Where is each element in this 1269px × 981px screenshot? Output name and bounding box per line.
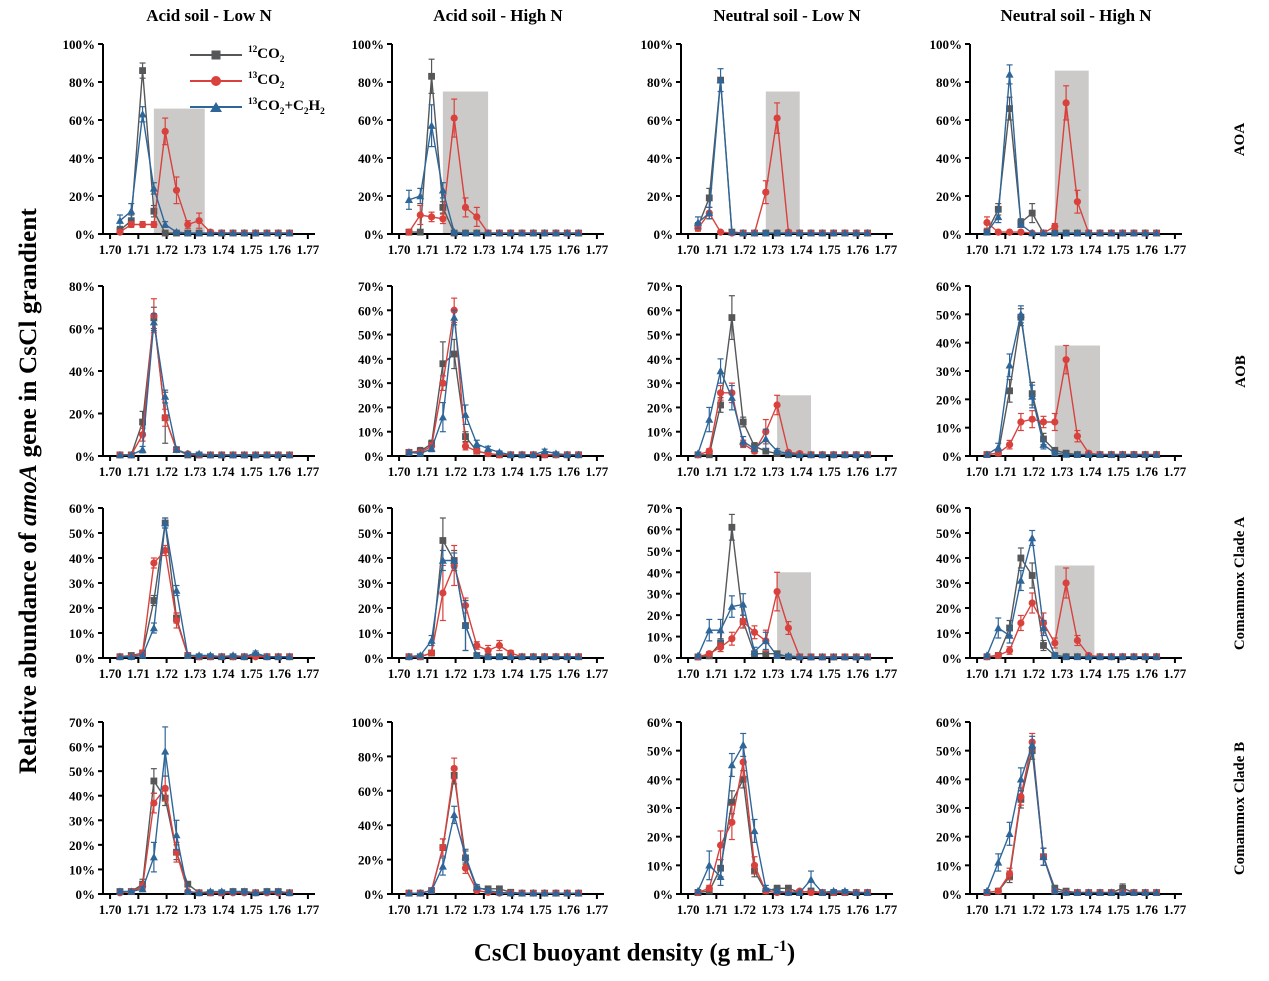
x-tick-label: 1.71 — [705, 902, 728, 917]
data-point-triangle — [994, 858, 1002, 865]
y-tick-label: 60% — [358, 501, 384, 516]
y-tick-label: 30% — [69, 813, 95, 828]
y-tick-label: 20% — [69, 407, 95, 422]
data-point-circle — [1063, 99, 1070, 106]
x-tick-label: 1.76 — [846, 902, 869, 917]
x-tick-label: 1.71 — [705, 666, 728, 681]
data-point-circle — [1051, 418, 1058, 425]
data-point-circle — [995, 229, 1002, 236]
y-tick-label: 30% — [69, 576, 95, 591]
x-tick-label: 1.70 — [677, 242, 700, 257]
series-12CO2 — [117, 518, 293, 660]
data-point-circle — [1006, 870, 1013, 877]
chart-panel-r2-c2[interactable]: 0%10%20%30%40%50%60%70%1.701.711.721.731… — [621, 498, 907, 688]
series-12CO2 — [406, 59, 582, 236]
x-tick-label: 1.71 — [994, 242, 1017, 257]
x-tick-label: 1.74 — [501, 902, 524, 917]
data-point-circle — [128, 221, 135, 228]
data-point-circle — [116, 229, 123, 236]
x-tick-label: 1.72 — [444, 464, 467, 479]
data-point-circle — [774, 401, 781, 408]
x-tick-label: 1.75 — [240, 666, 263, 681]
data-point-square — [1029, 572, 1036, 579]
x-tick-label: 1.72 — [155, 666, 178, 681]
chart-panel-r2-c1[interactable]: 0%10%20%30%40%50%60%1.701.711.721.731.74… — [332, 498, 618, 688]
chart-svg: 0%20%40%60%80%100%1.701.711.721.731.741.… — [621, 34, 907, 264]
data-point-circle — [1074, 198, 1081, 205]
y-tick-label: 30% — [936, 576, 962, 591]
data-point-square — [1017, 555, 1024, 562]
y-tick-label: 60% — [647, 522, 673, 537]
x-tick-label: 1.73 — [472, 902, 495, 917]
y-tick-label: 30% — [936, 364, 962, 379]
y-tick-label: 0% — [365, 887, 385, 902]
data-point-circle — [173, 187, 180, 194]
chart-svg: 0%20%40%60%80%100%1.701.711.721.731.741.… — [332, 34, 618, 264]
y-tick-label: 10% — [647, 425, 673, 440]
data-point-circle — [728, 635, 735, 642]
y-tick-label: 40% — [358, 151, 384, 166]
x-tick-label: 1.73 — [1050, 902, 1073, 917]
x-tick-label: 1.76 — [557, 666, 580, 681]
series-13CO2-C2H2 — [405, 310, 583, 458]
y-tick-label: 20% — [358, 601, 384, 616]
y-tick-label: 10% — [936, 626, 962, 641]
y-tick-label: 20% — [936, 830, 962, 845]
x-tick-label: 1.76 — [846, 242, 869, 257]
series-line — [987, 745, 1157, 893]
data-point-circle — [1029, 416, 1036, 423]
data-point-circle — [439, 844, 446, 851]
data-point-circle — [417, 211, 424, 218]
x-tick-label: 1.77 — [875, 464, 898, 479]
data-point-square — [740, 419, 747, 426]
chart-panel-r2-c3[interactable]: 0%10%20%30%40%50%60%1.701.711.721.731.74… — [910, 498, 1196, 688]
y-tick-label: 70% — [358, 279, 384, 294]
chart-svg: 0%10%20%30%40%50%60%1.701.711.721.731.74… — [43, 498, 329, 688]
y-tick-label: 60% — [358, 113, 384, 128]
chart-svg: 0%10%20%30%40%50%60%70%1.701.711.721.731… — [621, 276, 907, 486]
y-tick-label: 20% — [69, 601, 95, 616]
x-tick-label: 1.71 — [127, 464, 150, 479]
x-tick-label: 1.70 — [99, 242, 122, 257]
y-tick-label: 0% — [943, 651, 963, 666]
data-point-circle — [728, 819, 735, 826]
y-tick-label: 10% — [69, 862, 95, 877]
y-tick-label: 20% — [358, 400, 384, 415]
series-line — [698, 762, 868, 892]
row-label-text: AOA — [1233, 122, 1250, 155]
x-tick-label: 1.74 — [790, 464, 813, 479]
y-tick-label: 60% — [936, 715, 962, 730]
y-tick-label: 50% — [936, 307, 962, 322]
data-point-circle — [462, 443, 469, 450]
x-tick-label: 1.76 — [1135, 666, 1158, 681]
series-line — [120, 131, 290, 233]
row-label-3: Comammox Clade B — [1215, 722, 1267, 894]
data-point-circle — [1006, 229, 1013, 236]
chart-panel-r3-c0[interactable]: 0%10%20%30%40%50%60%70%1.701.711.721.731… — [43, 712, 329, 924]
chart-svg: 0%10%20%30%40%50%60%1.701.711.721.731.74… — [621, 712, 907, 924]
y-tick-label: 100% — [930, 37, 963, 52]
x-tick-label: 1.76 — [268, 902, 291, 917]
data-point-circle — [451, 765, 458, 772]
data-point-square — [439, 537, 446, 544]
x-tick-label: 1.75 — [240, 242, 263, 257]
x-tick-label: 1.70 — [99, 666, 122, 681]
x-tick-label: 1.74 — [501, 464, 524, 479]
series-12CO2 — [117, 63, 293, 236]
data-point-circle — [473, 213, 480, 220]
y-tick-label: 40% — [69, 551, 95, 566]
series-13CO2 — [405, 298, 582, 458]
chart-panel-r1-c3[interactable]: 0%10%20%30%40%50%60%1.701.711.721.731.74… — [910, 276, 1196, 486]
x-tick-label: 1.76 — [846, 464, 869, 479]
series-line — [698, 779, 868, 892]
x-tick-label: 1.71 — [416, 666, 439, 681]
x-tick-label: 1.73 — [472, 666, 495, 681]
x-tick-label: 1.77 — [586, 902, 609, 917]
y-tick-label: 20% — [647, 830, 673, 845]
x-tick-label: 1.70 — [966, 464, 989, 479]
data-point-circle — [451, 115, 458, 122]
x-tick-label: 1.74 — [212, 242, 235, 257]
x-tick-label: 1.76 — [268, 666, 291, 681]
x-tick-label: 1.76 — [1135, 242, 1158, 257]
chart-panel-r0-c0[interactable]: 0%20%40%60%80%100%1.701.711.721.731.741.… — [43, 34, 329, 264]
data-point-triangle — [439, 862, 447, 869]
y-tick-label: 20% — [69, 189, 95, 204]
data-point-circle — [462, 865, 469, 872]
data-point-circle — [1017, 619, 1024, 626]
data-point-circle — [428, 649, 435, 656]
chart-panel-r3-c2[interactable]: 0%10%20%30%40%50%60%1.701.711.721.731.74… — [621, 712, 907, 924]
y-tick-label: 20% — [936, 189, 962, 204]
chart-panel-r1-c0[interactable]: 0%20%40%60%80%1.701.711.721.731.741.751.… — [43, 276, 329, 486]
data-point-triangle — [439, 413, 447, 420]
y-tick-label: 50% — [647, 328, 673, 343]
y-tick-label: 0% — [943, 449, 963, 464]
y-tick-label: 10% — [69, 626, 95, 641]
data-point-triangle — [1017, 775, 1025, 782]
series-12CO2 — [117, 769, 293, 896]
data-point-circle — [139, 221, 146, 228]
y-tick-label: 0% — [365, 449, 385, 464]
y-tick-label: 100% — [352, 715, 385, 730]
y-tick-label: 40% — [69, 151, 95, 166]
y-tick-label: 40% — [358, 818, 384, 833]
y-tick-label: 0% — [654, 227, 674, 242]
x-tick-label: 1.70 — [966, 902, 989, 917]
data-point-circle — [717, 644, 724, 651]
series-line — [409, 76, 579, 233]
x-tick-label: 1.76 — [557, 464, 580, 479]
x-tick-label: 1.72 — [1022, 666, 1045, 681]
data-point-triangle — [150, 853, 158, 860]
x-tick-label: 1.74 — [1079, 666, 1102, 681]
series-line — [409, 775, 579, 893]
x-tick-label: 1.72 — [155, 902, 178, 917]
x-tick-label: 1.74 — [501, 242, 524, 257]
y-tick-label: 60% — [358, 784, 384, 799]
x-tick-label: 1.76 — [268, 464, 291, 479]
x-tick-label: 1.70 — [99, 902, 122, 917]
x-tick-label: 1.72 — [733, 902, 756, 917]
y-tick-label: 40% — [936, 336, 962, 351]
chart-panel-r1-c2[interactable]: 0%10%20%30%40%50%60%70%1.701.711.721.731… — [621, 276, 907, 486]
y-tick-label: 10% — [358, 626, 384, 641]
data-point-circle — [983, 219, 990, 226]
data-point-circle — [995, 888, 1002, 895]
x-tick-label: 1.77 — [297, 464, 320, 479]
y-tick-label: 0% — [76, 651, 96, 666]
data-point-circle — [184, 221, 191, 228]
series-line — [120, 71, 290, 233]
x-tick-label: 1.71 — [416, 464, 439, 479]
data-point-triangle — [739, 741, 747, 748]
x-tick-label: 1.74 — [1079, 902, 1102, 917]
chart-panel-r0-c3[interactable]: 0%20%40%60%80%100%1.701.711.721.731.741.… — [910, 34, 1196, 264]
y-tick-label: 30% — [358, 376, 384, 391]
data-point-circle — [1017, 418, 1024, 425]
y-tick-label: 40% — [69, 364, 95, 379]
data-point-circle — [139, 431, 146, 438]
column-title-2: Neutral soil - Low N — [621, 6, 953, 26]
data-point-triangle — [161, 747, 169, 754]
x-tick-label: 1.70 — [677, 464, 700, 479]
series-line — [409, 768, 579, 893]
x-tick-label: 1.75 — [240, 464, 263, 479]
x-tick-label: 1.73 — [761, 666, 784, 681]
data-point-circle — [751, 629, 758, 636]
data-point-triangle — [994, 624, 1002, 631]
x-tick-label: 1.77 — [875, 666, 898, 681]
data-point-circle — [995, 652, 1002, 659]
data-point-triangle — [450, 313, 458, 320]
x-tick-label: 1.77 — [1164, 902, 1187, 917]
data-point-circle — [1063, 579, 1070, 586]
y-tick-label: 20% — [647, 608, 673, 623]
data-point-triangle — [541, 447, 549, 454]
data-point-square — [139, 67, 146, 74]
x-tick-label: 1.71 — [994, 902, 1017, 917]
x-tick-label: 1.70 — [388, 242, 411, 257]
x-tick-label: 1.73 — [472, 242, 495, 257]
y-tick-label: 0% — [76, 887, 96, 902]
data-point-circle — [405, 229, 412, 236]
x-tick-label: 1.71 — [994, 666, 1017, 681]
data-point-circle — [774, 115, 781, 122]
x-tick-label: 1.77 — [586, 666, 609, 681]
y-axis-label-text: Relative abundance of amoA gene in CsCl … — [15, 207, 43, 773]
data-point-square — [417, 229, 424, 236]
y-tick-label: 0% — [365, 651, 385, 666]
x-tick-label: 1.73 — [1050, 464, 1073, 479]
x-tick-label: 1.72 — [444, 902, 467, 917]
y-tick-label: 0% — [76, 227, 96, 242]
x-tick-label: 1.75 — [1107, 666, 1130, 681]
y-tick-label: 40% — [647, 772, 673, 787]
x-tick-label: 1.71 — [127, 902, 150, 917]
x-tick-label: 1.77 — [1164, 464, 1187, 479]
series-13CO2 — [405, 758, 582, 897]
shaded-region — [154, 109, 205, 234]
x-tick-label: 1.75 — [818, 902, 841, 917]
x-tick-label: 1.77 — [875, 902, 898, 917]
data-point-triangle — [1006, 830, 1014, 837]
data-point-square — [439, 204, 446, 211]
y-tick-label: 40% — [936, 151, 962, 166]
data-point-circle — [1074, 433, 1081, 440]
y-tick-label: 60% — [647, 113, 673, 128]
x-tick-label: 1.73 — [1050, 666, 1073, 681]
y-tick-label: 60% — [69, 740, 95, 755]
series-line — [120, 751, 290, 892]
y-tick-label: 100% — [63, 37, 96, 52]
data-point-triangle — [705, 861, 713, 868]
y-tick-label: 70% — [647, 501, 673, 516]
column-title-0: Acid soil - Low N — [43, 6, 375, 26]
y-tick-label: 20% — [647, 400, 673, 415]
x-tick-label: 1.75 — [529, 902, 552, 917]
x-tick-label: 1.76 — [1135, 464, 1158, 479]
data-point-square — [150, 778, 157, 785]
data-point-circle — [150, 221, 157, 228]
series-13CO2-C2H2 — [116, 518, 294, 660]
series-line — [120, 788, 290, 892]
x-tick-label: 1.72 — [155, 242, 178, 257]
data-point-circle — [740, 618, 747, 625]
row-label-text: Comammox Clade A — [1233, 516, 1250, 649]
data-point-circle — [706, 650, 713, 657]
x-tick-label: 1.70 — [677, 666, 700, 681]
y-tick-label: 30% — [358, 576, 384, 591]
data-point-square — [162, 230, 169, 237]
chart-panel-r3-c1[interactable]: 0%20%40%60%80%100%1.701.711.721.731.741.… — [332, 712, 618, 924]
y-tick-label: 30% — [647, 801, 673, 816]
data-point-triangle — [750, 827, 758, 834]
x-tick-label: 1.76 — [1135, 902, 1158, 917]
y-tick-label: 50% — [647, 744, 673, 759]
y-tick-label: 50% — [69, 526, 95, 541]
data-point-circle — [762, 189, 769, 196]
chart-svg: 0%20%40%60%80%100%1.701.711.721.731.741.… — [43, 34, 329, 264]
data-point-circle — [1029, 599, 1036, 606]
chart-panel-r0-c1[interactable]: 0%20%40%60%80%100%1.701.711.721.731.741.… — [332, 34, 618, 264]
data-point-circle — [162, 128, 169, 135]
data-point-square — [706, 195, 713, 202]
y-tick-label: 50% — [358, 328, 384, 343]
y-tick-label: 20% — [936, 601, 962, 616]
x-tick-label: 1.76 — [268, 242, 291, 257]
y-tick-label: 80% — [69, 279, 95, 294]
x-tick-label: 1.73 — [183, 242, 206, 257]
y-tick-label: 10% — [647, 858, 673, 873]
chart-svg: 0%10%20%30%40%50%60%1.701.711.721.731.74… — [910, 498, 1196, 688]
y-tick-label: 60% — [69, 322, 95, 337]
x-tick-label: 1.74 — [501, 666, 524, 681]
x-tick-label: 1.72 — [155, 464, 178, 479]
y-tick-label: 50% — [647, 544, 673, 559]
y-tick-label: 20% — [647, 189, 673, 204]
x-tick-label: 1.70 — [388, 464, 411, 479]
row-label-0: AOA — [1215, 44, 1267, 234]
series-13CO2 — [983, 733, 1160, 896]
data-point-triangle — [717, 367, 725, 374]
row-label-text: Comammox Clade B — [1233, 741, 1250, 874]
x-tick-label: 1.75 — [1107, 464, 1130, 479]
x-tick-label: 1.74 — [212, 464, 235, 479]
x-tick-label: 1.71 — [416, 902, 439, 917]
data-point-circle — [1017, 229, 1024, 236]
x-tick-label: 1.70 — [99, 464, 122, 479]
x-tick-label: 1.77 — [297, 902, 320, 917]
y-tick-label: 20% — [358, 853, 384, 868]
chart-panel-r2-c0[interactable]: 0%10%20%30%40%50%60%1.701.711.721.731.74… — [43, 498, 329, 688]
data-point-triangle — [994, 443, 1002, 450]
data-point-square — [451, 351, 458, 358]
x-tick-label: 1.72 — [1022, 902, 1045, 917]
data-point-circle — [473, 448, 480, 455]
data-point-circle — [785, 624, 792, 631]
y-tick-label: 50% — [936, 744, 962, 759]
x-tick-label: 1.77 — [1164, 666, 1187, 681]
y-tick-label: 60% — [647, 715, 673, 730]
x-tick-label: 1.76 — [846, 666, 869, 681]
x-tick-label: 1.75 — [240, 902, 263, 917]
data-point-circle — [162, 785, 169, 792]
x-tick-label: 1.75 — [1107, 242, 1130, 257]
chart-svg: 0%10%20%30%40%50%60%70%1.701.711.721.731… — [621, 498, 907, 688]
data-point-triangle — [705, 415, 713, 422]
x-tick-label: 1.77 — [297, 666, 320, 681]
chart-panel-r3-c3[interactable]: 0%10%20%30%40%50%60%1.701.711.721.731.74… — [910, 712, 1196, 924]
x-tick-label: 1.71 — [705, 242, 728, 257]
x-tick-label: 1.72 — [444, 242, 467, 257]
x-tick-label: 1.75 — [818, 242, 841, 257]
data-point-square — [1006, 387, 1013, 394]
data-point-triangle — [728, 761, 736, 768]
series-13CO2-C2H2 — [405, 806, 583, 896]
data-point-triangle — [739, 437, 747, 444]
y-tick-label: 60% — [69, 113, 95, 128]
chart-panel-r1-c1[interactable]: 0%10%20%30%40%50%60%70%1.701.711.721.731… — [332, 276, 618, 486]
x-tick-label: 1.72 — [1022, 464, 1045, 479]
y-tick-label: 100% — [352, 37, 385, 52]
y-tick-label: 60% — [936, 113, 962, 128]
y-tick-label: 80% — [936, 75, 962, 90]
chart-svg: 0%20%40%60%80%100%1.701.711.721.731.741.… — [332, 712, 618, 924]
x-tick-label: 1.74 — [212, 902, 235, 917]
x-tick-label: 1.74 — [790, 902, 813, 917]
y-tick-label: 40% — [647, 565, 673, 580]
x-tick-label: 1.77 — [875, 242, 898, 257]
x-tick-label: 1.73 — [472, 464, 495, 479]
y-tick-label: 60% — [936, 279, 962, 294]
x-tick-label: 1.70 — [966, 242, 989, 257]
series-line — [120, 781, 290, 893]
series-13CO2 — [116, 299, 293, 459]
y-tick-label: 40% — [936, 772, 962, 787]
chart-svg: 0%10%20%30%40%50%60%1.701.711.721.731.74… — [910, 712, 1196, 924]
chart-svg: 0%10%20%30%40%50%60%1.701.711.721.731.74… — [332, 498, 618, 688]
y-tick-label: 50% — [936, 526, 962, 541]
series-13CO2-C2H2 — [694, 733, 872, 895]
chart-panel-r0-c2[interactable]: 0%20%40%60%80%100%1.701.711.721.731.741.… — [621, 34, 907, 264]
series-13CO2 — [116, 546, 293, 661]
data-point-triangle — [1006, 70, 1014, 77]
data-point-triangle — [1028, 534, 1036, 541]
